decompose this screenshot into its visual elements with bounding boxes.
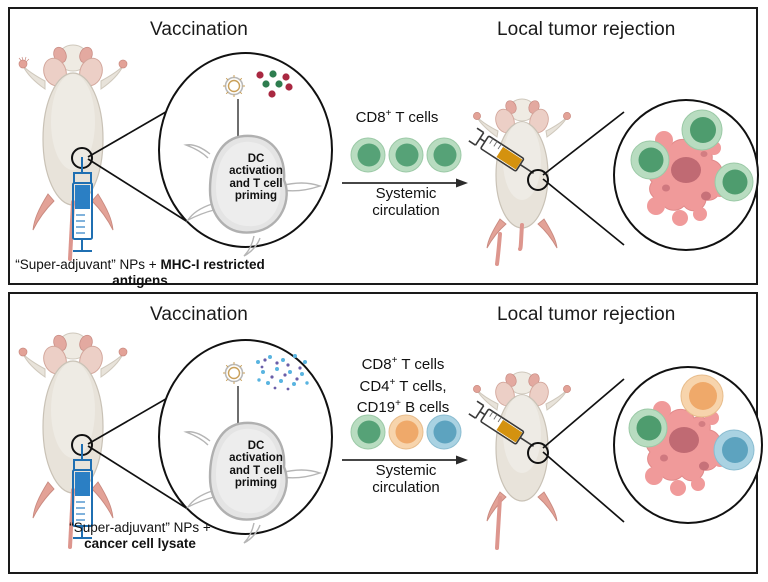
cd4-prefix: CD4 xyxy=(360,378,390,395)
caption-bottom-normal: “Super-adjuvant” NPs + xyxy=(69,520,210,535)
tumor-mass-with-t-cells-top xyxy=(618,104,756,246)
mouse-tail-tumor-bottom xyxy=(491,498,507,548)
dc-label-line-1: DC xyxy=(210,440,302,452)
sys-line-1: Systemic xyxy=(341,462,471,479)
cd8-prefix: CD8 xyxy=(362,356,392,373)
cell-label-cd4: CD4+ T cells, xyxy=(338,374,468,396)
dc-label-line-3: and T cell xyxy=(210,178,302,190)
panel-top-title-rejection: Local tumor rejection xyxy=(497,19,675,41)
cd4-suffix: T cells, xyxy=(395,378,446,395)
panel-top-title-vaccination: Vaccination xyxy=(150,19,248,41)
dc-label-line-4: priming xyxy=(210,477,302,489)
panel-bottom-title-vaccination: Vaccination xyxy=(150,304,248,326)
cd8-suffix: T cells xyxy=(397,356,444,373)
dc-label-line-2: activation xyxy=(210,165,302,177)
systemic-circulation-label-bottom: Systemic circulation xyxy=(341,462,471,496)
mouse-tail-tumor-top xyxy=(491,234,507,264)
dc-activation-label-bottom: DC activation and T cell priming xyxy=(210,440,302,490)
super-adjuvant-nanoparticle-top xyxy=(219,71,249,101)
super-adjuvant-nanoparticle-bottom xyxy=(219,358,249,388)
circulating-immune-cells-bottom xyxy=(350,412,462,452)
dc-label-line-1: DC xyxy=(210,153,302,165)
dc-label-line-4: priming xyxy=(210,190,302,202)
sys-line-2: circulation xyxy=(341,202,471,219)
panel-bottom: Vaccination Local tumor rejection xyxy=(8,292,758,574)
dc-activation-label-top: DC activation and T cell priming xyxy=(210,153,302,203)
dc-label-line-2: activation xyxy=(210,452,302,464)
caption-top: “Super-adjuvant” NPs + MHC-I restricted … xyxy=(15,257,265,288)
panel-top: Vaccination Local tumor rejection xyxy=(8,7,758,285)
sys-line-1: Systemic xyxy=(341,185,471,202)
cell-label-cd8: CD8+ T cells xyxy=(338,352,468,374)
caption-top-normal: “Super-adjuvant” NPs + xyxy=(15,257,160,272)
caption-bottom-bold: cancer cell lysate xyxy=(84,536,196,551)
systemic-circulation-label-top: Systemic circulation xyxy=(341,185,471,219)
mhc-i-restricted-antigens-top xyxy=(251,69,299,107)
figure-root: Vaccination Local tumor rejection xyxy=(0,0,768,582)
cell-label-cd8-top: CD8+ T cells xyxy=(342,105,452,127)
caption-bottom: “Super-adjuvant” NPs + cancer cell lysat… xyxy=(15,520,265,551)
panel-bottom-title-rejection: Local tumor rejection xyxy=(497,304,675,326)
cd8-prefix: CD8 xyxy=(356,109,386,126)
tumor-mass-with-immune-cells-bottom xyxy=(616,370,760,520)
circulating-cd8-t-cells-top xyxy=(350,135,462,175)
cell-labels-bottom: CD8+ T cells CD4+ T cells, CD19+ B cells xyxy=(338,352,468,417)
dc-label-line-3: and T cell xyxy=(210,465,302,477)
sys-line-2: circulation xyxy=(341,479,471,496)
cd8-suffix: T cells xyxy=(391,109,438,126)
cancer-cell-lysate-particles xyxy=(250,352,312,394)
